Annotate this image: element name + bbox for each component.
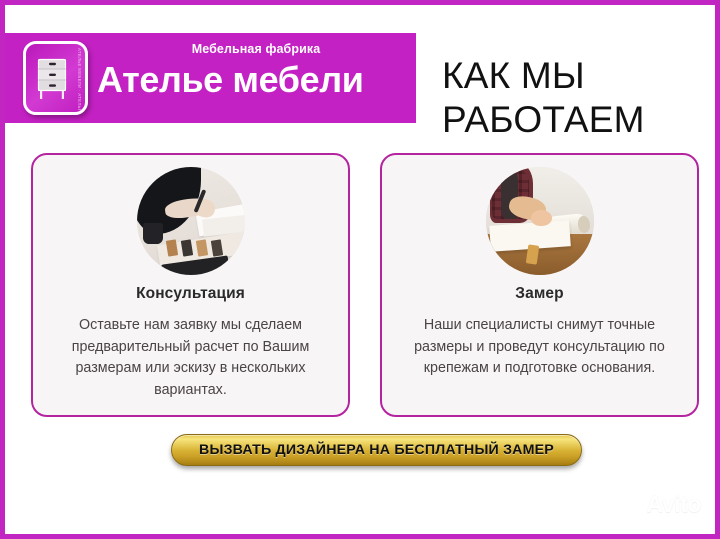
poster-canvas: АТЕЛЬЕ МЕБЕЛИ · АТЕЛЬЕ МЕБЕЛИ Мебельная … — [0, 0, 720, 539]
step-description: Оставьте нам заявку мы сделаем предварит… — [47, 315, 334, 401]
step-photo-consultation — [137, 167, 245, 275]
step-card-consultation: Консультация Оставьте нам заявку мы сдел… — [31, 153, 350, 417]
header: АТЕЛЬЕ МЕБЕЛИ · АТЕЛЬЕ МЕБЕЛИ Мебельная … — [5, 33, 720, 123]
call-designer-button[interactable]: ВЫЗВАТЬ ДИЗАЙНЕРА НА БЕСПЛАТНЫЙ ЗАМЕР — [171, 434, 582, 466]
photo-swatch-sample — [181, 240, 193, 258]
page-title-line-2: РАБОТАЕМ — [442, 98, 714, 142]
dresser-icon — [35, 57, 69, 103]
logo-vertical-text: АТЕЛЬЕ МЕБЕЛИ · АТЕЛЬЕ МЕБЕЛИ — [71, 48, 82, 110]
avito-logo-icon — [626, 496, 643, 513]
brand-subtitle: Мебельная фабрика — [103, 42, 409, 56]
brand-text: Мебельная фабрика Ателье мебели — [97, 42, 409, 103]
brand-band: АТЕЛЬЕ МЕБЕЛИ · АТЕЛЬЕ МЕБЕЛИ Мебельная … — [5, 33, 416, 123]
logo-tile: АТЕЛЬЕ МЕБЕЛИ · АТЕЛЬЕ МЕБЕЛИ — [23, 41, 88, 115]
call-designer-button-label: ВЫЗВАТЬ ДИЗАЙНЕРА НА БЕСПЛАТНЫЙ ЗАМЕР — [199, 442, 554, 458]
brand-title: Ателье мебели — [97, 57, 409, 103]
photo-swatch-sample — [166, 240, 178, 258]
step-photo-measurement — [486, 167, 594, 275]
page-title-line-1: КАК МЫ — [442, 54, 714, 98]
avito-watermark: Avito — [626, 493, 701, 516]
avito-watermark-text: Avito — [646, 493, 701, 516]
step-title: Замер — [382, 285, 697, 303]
photo-clamp — [525, 244, 538, 265]
step-card-measurement: Замер Наши специалисты снимут точные раз… — [380, 153, 699, 417]
step-description: Наши специалисты снимут точные размеры и… — [396, 315, 683, 380]
page-title: КАК МЫ РАБОТАЕМ — [442, 54, 714, 142]
photo-coffee-cup — [143, 223, 164, 244]
step-title: Консультация — [33, 285, 348, 303]
steps-card-list: Консультация Оставьте нам заявку мы сдел… — [5, 153, 720, 419]
